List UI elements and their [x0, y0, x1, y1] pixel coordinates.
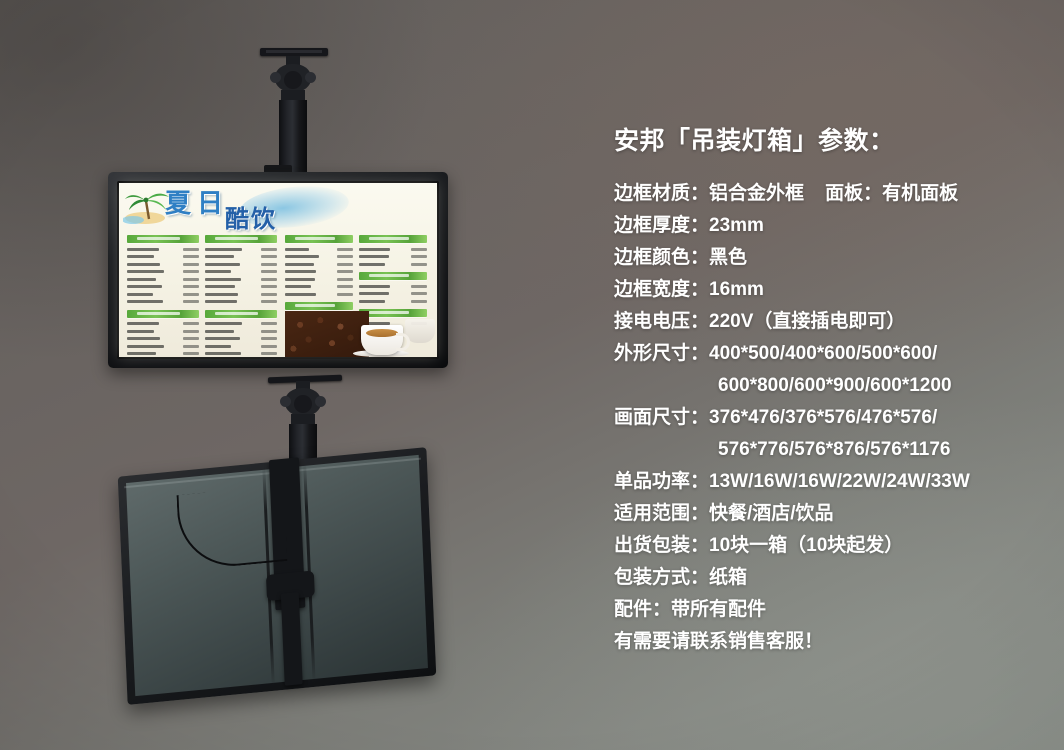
spec-line-10: 单品功率：13W/16W/16W/22W/24W/33W	[614, 466, 1044, 498]
menu-item-row	[127, 269, 199, 275]
menu-item-name	[127, 330, 154, 333]
menu-item-row	[127, 351, 199, 357]
spec-line-2: 边框厚度：23mm	[614, 210, 1044, 242]
menu-item-row	[127, 343, 199, 349]
menu-section-2-2	[205, 310, 277, 357]
menu-display-panel: 夏 日 酷 饮	[119, 183, 437, 357]
menu-item-price	[183, 278, 199, 281]
menu-item-row	[285, 276, 353, 282]
menu-item-price	[183, 337, 199, 340]
menu-item-name	[127, 300, 163, 303]
menu-item-row	[205, 343, 277, 349]
menu-item-price	[261, 345, 277, 348]
spec-line-3: 边框颜色：黑色	[614, 242, 1044, 274]
menu-item-row	[359, 283, 427, 289]
menu-item-price	[337, 278, 353, 281]
menu-section-header	[205, 310, 277, 318]
menu-item-price	[183, 330, 199, 333]
menu-item-row	[205, 336, 277, 342]
spec-line-1: 边框材质：铝合金外框 面板：有机面板	[614, 178, 1044, 210]
menu-item-price	[261, 270, 277, 273]
menu-item-row	[205, 261, 277, 267]
menu-section-header	[127, 310, 199, 318]
menu-header-banner: 夏 日 酷 饮	[119, 183, 437, 241]
menu-item-name	[205, 278, 241, 281]
menu-item-name	[285, 285, 311, 288]
menu-item-name	[127, 263, 160, 266]
spec-line-11: 适用范围：快餐/酒店/饮品	[614, 498, 1044, 530]
menu-section-header	[127, 235, 199, 243]
product-photo: 夏 日 酷 饮	[0, 0, 1064, 750]
menu-item-row	[127, 328, 199, 334]
menu-item-price	[337, 285, 353, 288]
menu-item-price	[337, 255, 353, 258]
menu-item-name	[285, 263, 314, 266]
menu-item-row	[127, 321, 199, 327]
menu-item-name	[359, 248, 390, 251]
menu-column-1	[127, 235, 199, 357]
menu-item-price	[411, 263, 427, 266]
menu-item-name	[127, 322, 159, 325]
spec-line-9: 576*776/576*876/576*1176	[614, 434, 1044, 466]
menu-item-price	[261, 248, 277, 251]
menu-item-row	[359, 261, 427, 267]
menu-item-row	[205, 254, 277, 260]
menu-item-price	[261, 300, 277, 303]
menu-item-name	[127, 255, 154, 258]
menu-item-name	[205, 322, 242, 325]
menu-item-row	[127, 261, 199, 267]
menu-section-1-2	[127, 310, 199, 357]
menu-section-header	[359, 272, 427, 280]
spec-line-15: 有需要请联系销售客服！	[614, 626, 1044, 658]
menu-item-name	[127, 337, 160, 340]
menu-item-name	[205, 293, 238, 296]
menu-item-row	[285, 284, 353, 290]
menu-item-name	[127, 248, 159, 251]
menu-item-row	[285, 261, 353, 267]
menu-item-row	[127, 254, 199, 260]
spec-line-4: 边框宽度：16mm	[614, 274, 1044, 306]
menu-item-row	[359, 254, 427, 260]
menu-item-row	[205, 276, 277, 282]
menu-item-price	[337, 248, 353, 251]
menu-item-name	[205, 255, 234, 258]
menu-item-name	[359, 263, 385, 266]
menu-title-char-4: 饮	[251, 207, 275, 231]
menu-item-row	[127, 336, 199, 342]
menu-item-name	[359, 285, 390, 288]
menu-item-name	[205, 300, 237, 303]
menu-item-name	[359, 255, 389, 258]
menu-item-row	[359, 291, 427, 297]
menu-item-row	[205, 351, 277, 357]
menu-item-row	[127, 291, 199, 297]
hanging-light-box-rear[interactable]	[118, 447, 437, 705]
menu-item-row	[285, 246, 353, 252]
ceiling-plate-slots	[266, 50, 322, 53]
menu-item-row	[205, 299, 277, 305]
spec-heading: 安邦「吊装灯箱」参数：	[614, 128, 1044, 156]
spec-line-7: 600*800/600*900/600*1200	[614, 370, 1044, 402]
menu-section-4-1	[359, 235, 427, 267]
menu-item-price	[411, 248, 427, 251]
menu-title-char-1: 夏	[165, 191, 191, 217]
menu-section-2-1	[205, 235, 277, 305]
menu-item-price	[261, 337, 277, 340]
menu-item-price	[183, 293, 199, 296]
menu-item-name	[285, 255, 319, 258]
menu-item-name	[285, 293, 316, 296]
menu-item-name	[205, 352, 241, 355]
menu-title-char-3: 酷	[225, 207, 249, 231]
menu-item-name	[205, 285, 235, 288]
menu-item-name	[127, 270, 164, 273]
menu-item-price	[337, 293, 353, 296]
mount-bolt-lower-right	[315, 396, 326, 407]
spec-line-8: 画面尺寸：376*476/376*576/476*576/	[614, 402, 1044, 434]
menu-item-price	[411, 255, 427, 258]
menu-item-price	[411, 285, 427, 288]
menu-item-name	[205, 270, 231, 273]
menu-item-name	[285, 270, 316, 273]
mount-pivot-center-lower	[294, 395, 312, 413]
menu-section-header	[285, 235, 353, 243]
menu-item-name	[359, 292, 389, 295]
menu-item-price	[183, 270, 199, 273]
menu-section-4-2	[359, 272, 427, 304]
menu-item-price	[183, 352, 199, 355]
menu-item-price	[337, 270, 353, 273]
menu-item-row	[205, 328, 277, 334]
menu-item-price	[183, 345, 199, 348]
menu-item-price	[261, 330, 277, 333]
menu-item-name	[285, 248, 309, 251]
menu-section-3-1	[285, 235, 353, 297]
menu-item-row	[205, 291, 277, 297]
menu-column-2	[205, 235, 277, 357]
spec-line-14: 配件：带所有配件	[614, 594, 1044, 626]
menu-item-name	[127, 352, 156, 355]
menu-item-price	[183, 285, 199, 288]
menu-item-price	[411, 292, 427, 295]
menu-item-name	[205, 337, 240, 340]
menu-item-price	[337, 263, 353, 266]
spec-line-5: 接电电压：220V（直接插电即可）	[614, 306, 1044, 338]
menu-item-price	[261, 352, 277, 355]
hanging-light-box-front[interactable]: 夏 日 酷 饮	[108, 172, 448, 368]
menu-artwork: 夏 日 酷 饮	[119, 183, 437, 357]
menu-item-row	[205, 321, 277, 327]
menu-item-row	[127, 246, 199, 252]
menu-item-name	[127, 293, 153, 296]
menu-section-header	[359, 235, 427, 243]
spec-line-list: 边框材质：铝合金外框 面板：有机面板边框厚度：23mm边框颜色：黑色边框宽度：1…	[614, 178, 1044, 658]
coffee-cup-front	[361, 325, 403, 355]
menu-item-price	[183, 300, 199, 303]
spec-line-6: 外形尺寸：400*500/400*600/500*600/	[614, 338, 1044, 370]
menu-item-price	[261, 263, 277, 266]
menu-item-row	[359, 246, 427, 252]
menu-item-name	[127, 285, 162, 288]
coffee-beans-image	[285, 311, 369, 357]
menu-item-name	[127, 278, 156, 281]
specification-panel: 安邦「吊装灯箱」参数： 边框材质：铝合金外框 面板：有机面板边框厚度：23mm边…	[614, 128, 1044, 658]
menu-item-name	[127, 345, 164, 348]
menu-section-1-1	[127, 235, 199, 305]
menu-title: 夏 日 酷 饮	[163, 189, 323, 235]
menu-item-row	[127, 284, 199, 290]
mount-bolt-left	[270, 72, 281, 83]
menu-item-price	[261, 285, 277, 288]
menu-item-price	[261, 293, 277, 296]
menu-item-price	[183, 263, 199, 266]
menu-item-row	[285, 269, 353, 275]
menu-item-row	[205, 269, 277, 275]
menu-item-row	[205, 246, 277, 252]
mount-pivot-center	[284, 71, 302, 89]
menu-title-char-2: 日	[197, 191, 223, 217]
menu-item-name	[205, 345, 231, 348]
spec-line-13: 包装方式：纸箱	[614, 562, 1044, 594]
menu-item-price	[183, 322, 199, 325]
mount-bolt-lower-left	[280, 396, 291, 407]
menu-item-row	[285, 254, 353, 260]
menu-item-name	[205, 263, 240, 266]
menu-item-name	[205, 248, 242, 251]
menu-item-row	[127, 276, 199, 282]
menu-item-name	[285, 278, 315, 281]
menu-item-price	[183, 248, 199, 251]
menu-item-price	[183, 255, 199, 258]
menu-item-row	[127, 299, 199, 305]
menu-item-row	[285, 291, 353, 297]
menu-item-price	[261, 278, 277, 281]
menu-item-name	[205, 330, 234, 333]
menu-section-header	[205, 235, 277, 243]
menu-item-price	[261, 322, 277, 325]
menu-item-row	[205, 284, 277, 290]
coffee-photo	[285, 301, 437, 357]
spec-line-12: 出货包装：10块一箱（10块起发）	[614, 530, 1044, 562]
ceiling-mount-upper	[248, 48, 344, 174]
menu-item-price	[261, 255, 277, 258]
mount-bolt-right	[305, 72, 316, 83]
